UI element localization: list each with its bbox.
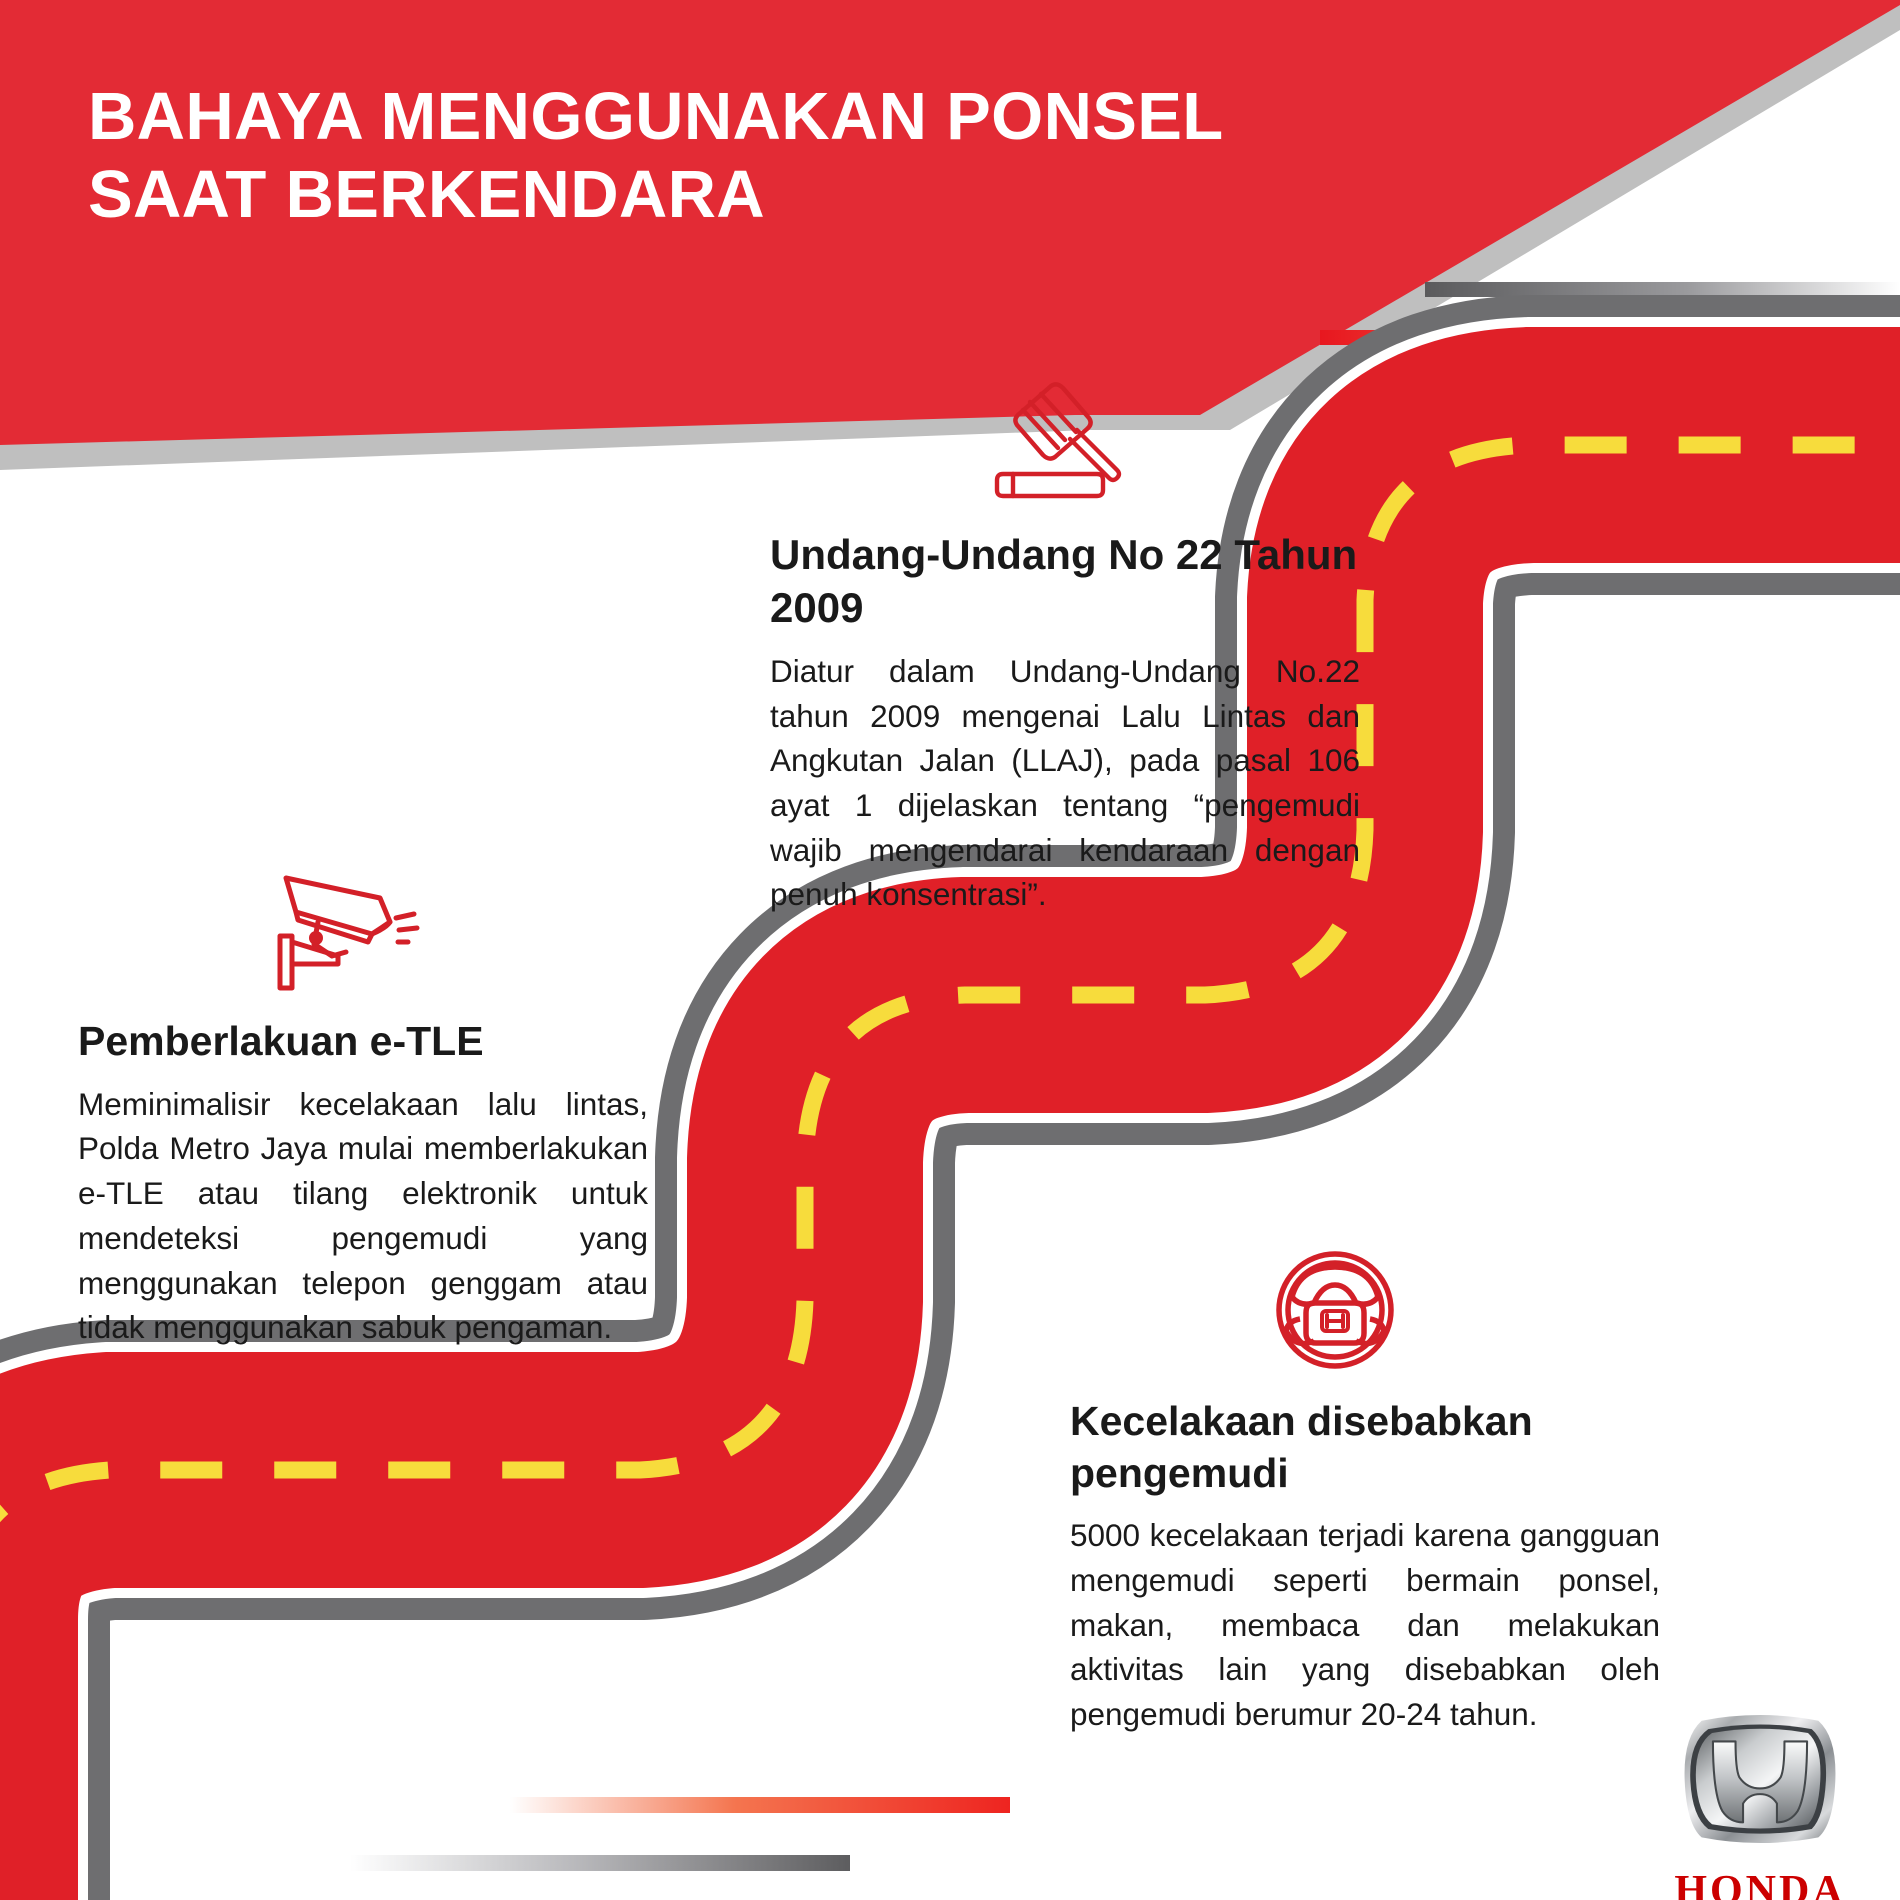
info-block-kecelakaan: Kecelakaan disebabkan pengemudi 5000 kec… [1070, 1245, 1660, 1737]
info-block-e-tle: Pemberlakuan e-TLE Meminimalisir kecelak… [78, 860, 648, 1350]
info-block-title: Undang-Undang No 22 Tahun 2009 [770, 529, 1360, 635]
steering-wheel-icon [1270, 1245, 1400, 1380]
info-block-title: Kecelakaan disebabkan pengemudi [1070, 1396, 1660, 1499]
honda-logo: HONDA [1660, 1700, 1860, 1900]
honda-h-badge [1322, 1311, 1348, 1331]
info-block-undang-undang: Undang-Undang No 22 Tahun 2009 Diatur da… [770, 378, 1360, 917]
page-title-line-1: BAHAYA MENGGUNAKAN PONSEL [88, 78, 1208, 156]
gavel-icon [985, 378, 1125, 513]
honda-wordmark: HONDA [1660, 1867, 1860, 1900]
honda-h-emblem [1665, 1700, 1855, 1860]
infographic-canvas: BAHAYA MENGGUNAKAN PONSEL SAAT BERKENDAR… [0, 0, 1900, 1900]
info-block-title: Pemberlakuan e-TLE [78, 1016, 648, 1068]
page-title: BAHAYA MENGGUNAKAN PONSEL SAAT BERKENDAR… [88, 78, 1208, 233]
info-block-body: 5000 kecelakaan terjadi karena gangguan … [1070, 1513, 1660, 1737]
info-block-body: Diatur dalam Undang-Undang No.22 tahun 2… [770, 649, 1360, 917]
page-title-line-2: SAAT BERKENDARA [88, 156, 1208, 234]
info-block-body: Meminimalisir kecelakaan lalu lintas, Po… [78, 1082, 648, 1350]
cctv-camera-icon [268, 860, 423, 1000]
